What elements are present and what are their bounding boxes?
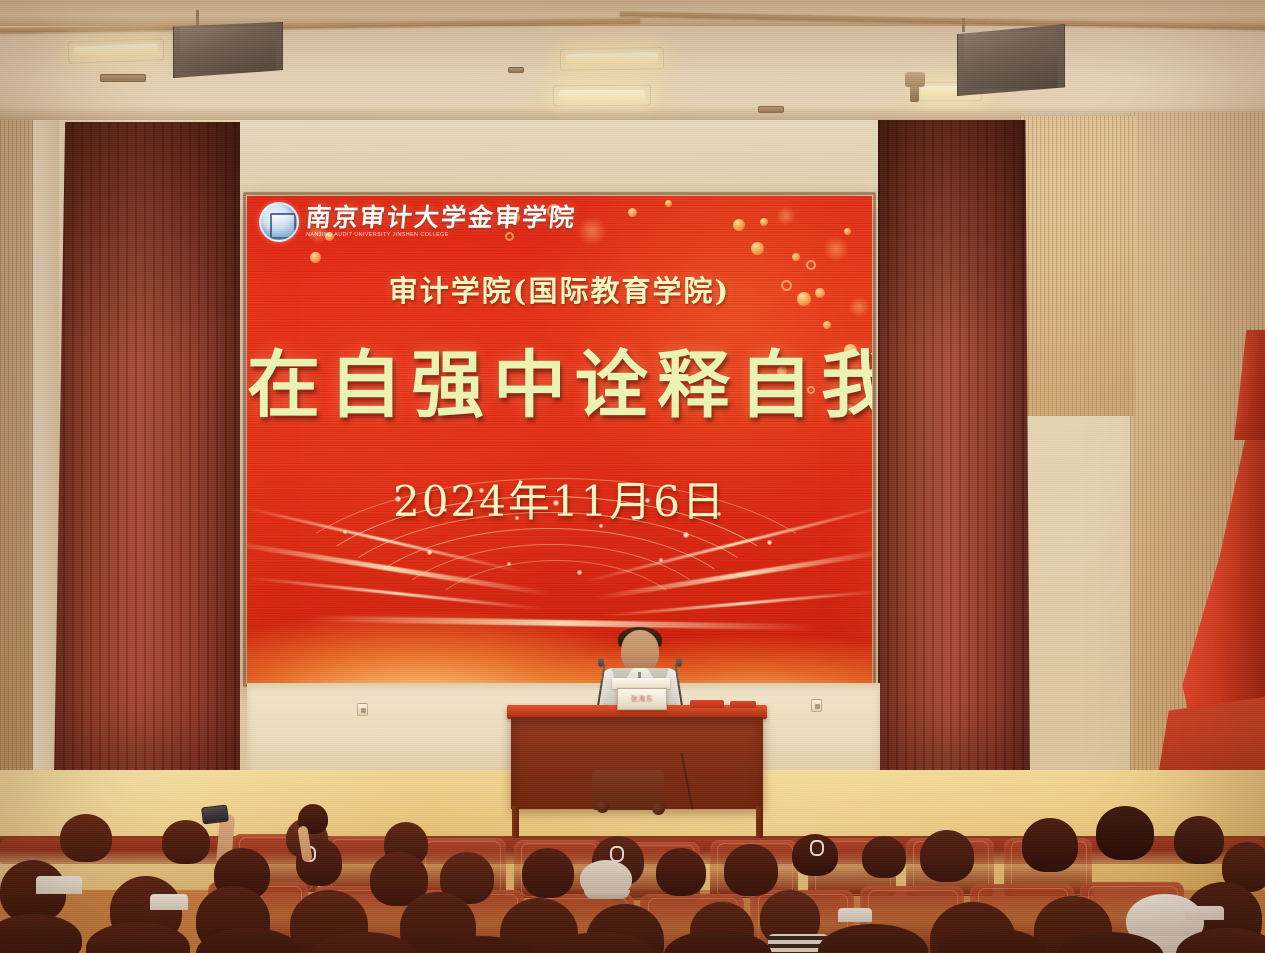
logo-institution-name-cn: 南京审计大学金审学院	[305, 205, 577, 230]
ceiling-speaker-2	[957, 24, 1065, 96]
sparkle	[659, 558, 663, 562]
audience-white-shirt	[36, 876, 82, 894]
audience-white-shirt	[1186, 906, 1224, 920]
speaker-nameplate-text: 张海东	[631, 694, 654, 704]
bokeh-circle	[792, 253, 800, 261]
audience-head	[724, 844, 778, 896]
audience-head	[920, 830, 974, 882]
bokeh-circle	[760, 218, 768, 226]
stage-curtain-left	[54, 122, 240, 780]
sparkle	[767, 540, 772, 545]
audience-white-shirt	[150, 894, 188, 910]
curtain-shadow-left	[54, 122, 240, 359]
ceiling-light-2	[566, 52, 658, 65]
bokeh-circle	[751, 242, 764, 255]
grey-cap-brim	[584, 890, 630, 899]
screen-subtitle: 审计学院(国际教育学院)	[247, 268, 872, 310]
mobile-phone	[201, 804, 229, 824]
stage-curtain-right	[878, 120, 1030, 782]
desk-item-red-folder	[690, 700, 724, 708]
speaker-hanger-2	[962, 18, 965, 32]
ribbon-wave-artwork	[247, 420, 872, 683]
sparkle	[443, 508, 447, 512]
logo-institution-name-en: NANJING AUDIT UNIVERSITY JINSHEN COLLEGE	[306, 233, 576, 238]
sparkle	[343, 530, 347, 534]
bokeh-circle	[776, 206, 796, 226]
screen-main-title: 在自强中诠释自我	[247, 326, 872, 432]
hair-clip	[810, 840, 824, 856]
bokeh-circle	[733, 219, 745, 231]
audience-head	[1022, 818, 1078, 872]
wall-pillar-left	[33, 120, 59, 780]
bokeh-circle	[665, 200, 672, 207]
audience-head	[1174, 816, 1224, 864]
sparkle	[507, 562, 511, 566]
audience-head	[522, 848, 574, 898]
led-display-screen: 南京审计大学金审学院 NANJING AUDIT UNIVERSITY JINS…	[247, 196, 872, 683]
university-seal-emblem	[259, 202, 299, 242]
power-outlet	[357, 703, 368, 716]
sparkle	[553, 500, 559, 506]
sparkle	[479, 488, 484, 493]
audience-head	[60, 814, 112, 862]
sparkle	[395, 496, 401, 502]
ribbon-arc	[261, 478, 851, 683]
audience-head	[1096, 806, 1154, 860]
sparkle	[577, 570, 582, 575]
sparkle	[717, 512, 721, 516]
seated-audience	[0, 790, 1265, 953]
audience-head	[862, 836, 906, 878]
microphone-left-head	[598, 658, 604, 667]
projector-mount	[905, 72, 925, 87]
bokeh-circle	[628, 208, 637, 217]
sparkle	[599, 524, 603, 528]
auditorium-photo: 南京审计大学金审学院 NANJING AUDIT UNIVERSITY JINS…	[0, 0, 1265, 953]
sparkle	[645, 498, 650, 503]
sparkle	[683, 532, 689, 538]
bokeh-circle	[310, 252, 321, 263]
audience-white-shirt	[838, 908, 872, 922]
ceiling-speaker-1	[173, 22, 283, 78]
curtain-shadow-right	[878, 120, 1030, 358]
ceiling-light-3	[559, 90, 645, 100]
microphone-right-head	[676, 658, 682, 667]
power-outlet	[811, 699, 822, 712]
bokeh-circle	[823, 236, 849, 262]
wood-panel-wall-right-upper	[1020, 116, 1136, 416]
audience-head	[162, 820, 210, 864]
sparkle	[515, 516, 519, 520]
desk-item-red-book	[730, 701, 756, 708]
ceiling-vent-1	[100, 74, 146, 82]
ceiling	[0, 0, 1265, 128]
speaker-nameplate: 张海东	[617, 688, 667, 710]
audience-head	[656, 848, 706, 896]
ceiling-vent-3	[508, 67, 524, 73]
university-logo: 南京审计大学金审学院 NANJING AUDIT UNIVERSITY JINS…	[259, 202, 576, 242]
upper-wall-band	[236, 120, 936, 200]
speaker-head	[621, 630, 659, 673]
wood-panel-wall-left	[0, 120, 36, 780]
audience-head-front	[0, 914, 82, 953]
speaker-hanger-1	[196, 10, 199, 26]
sparkle	[427, 550, 432, 555]
bokeh-circle	[577, 216, 607, 246]
bokeh-circle	[844, 228, 851, 235]
